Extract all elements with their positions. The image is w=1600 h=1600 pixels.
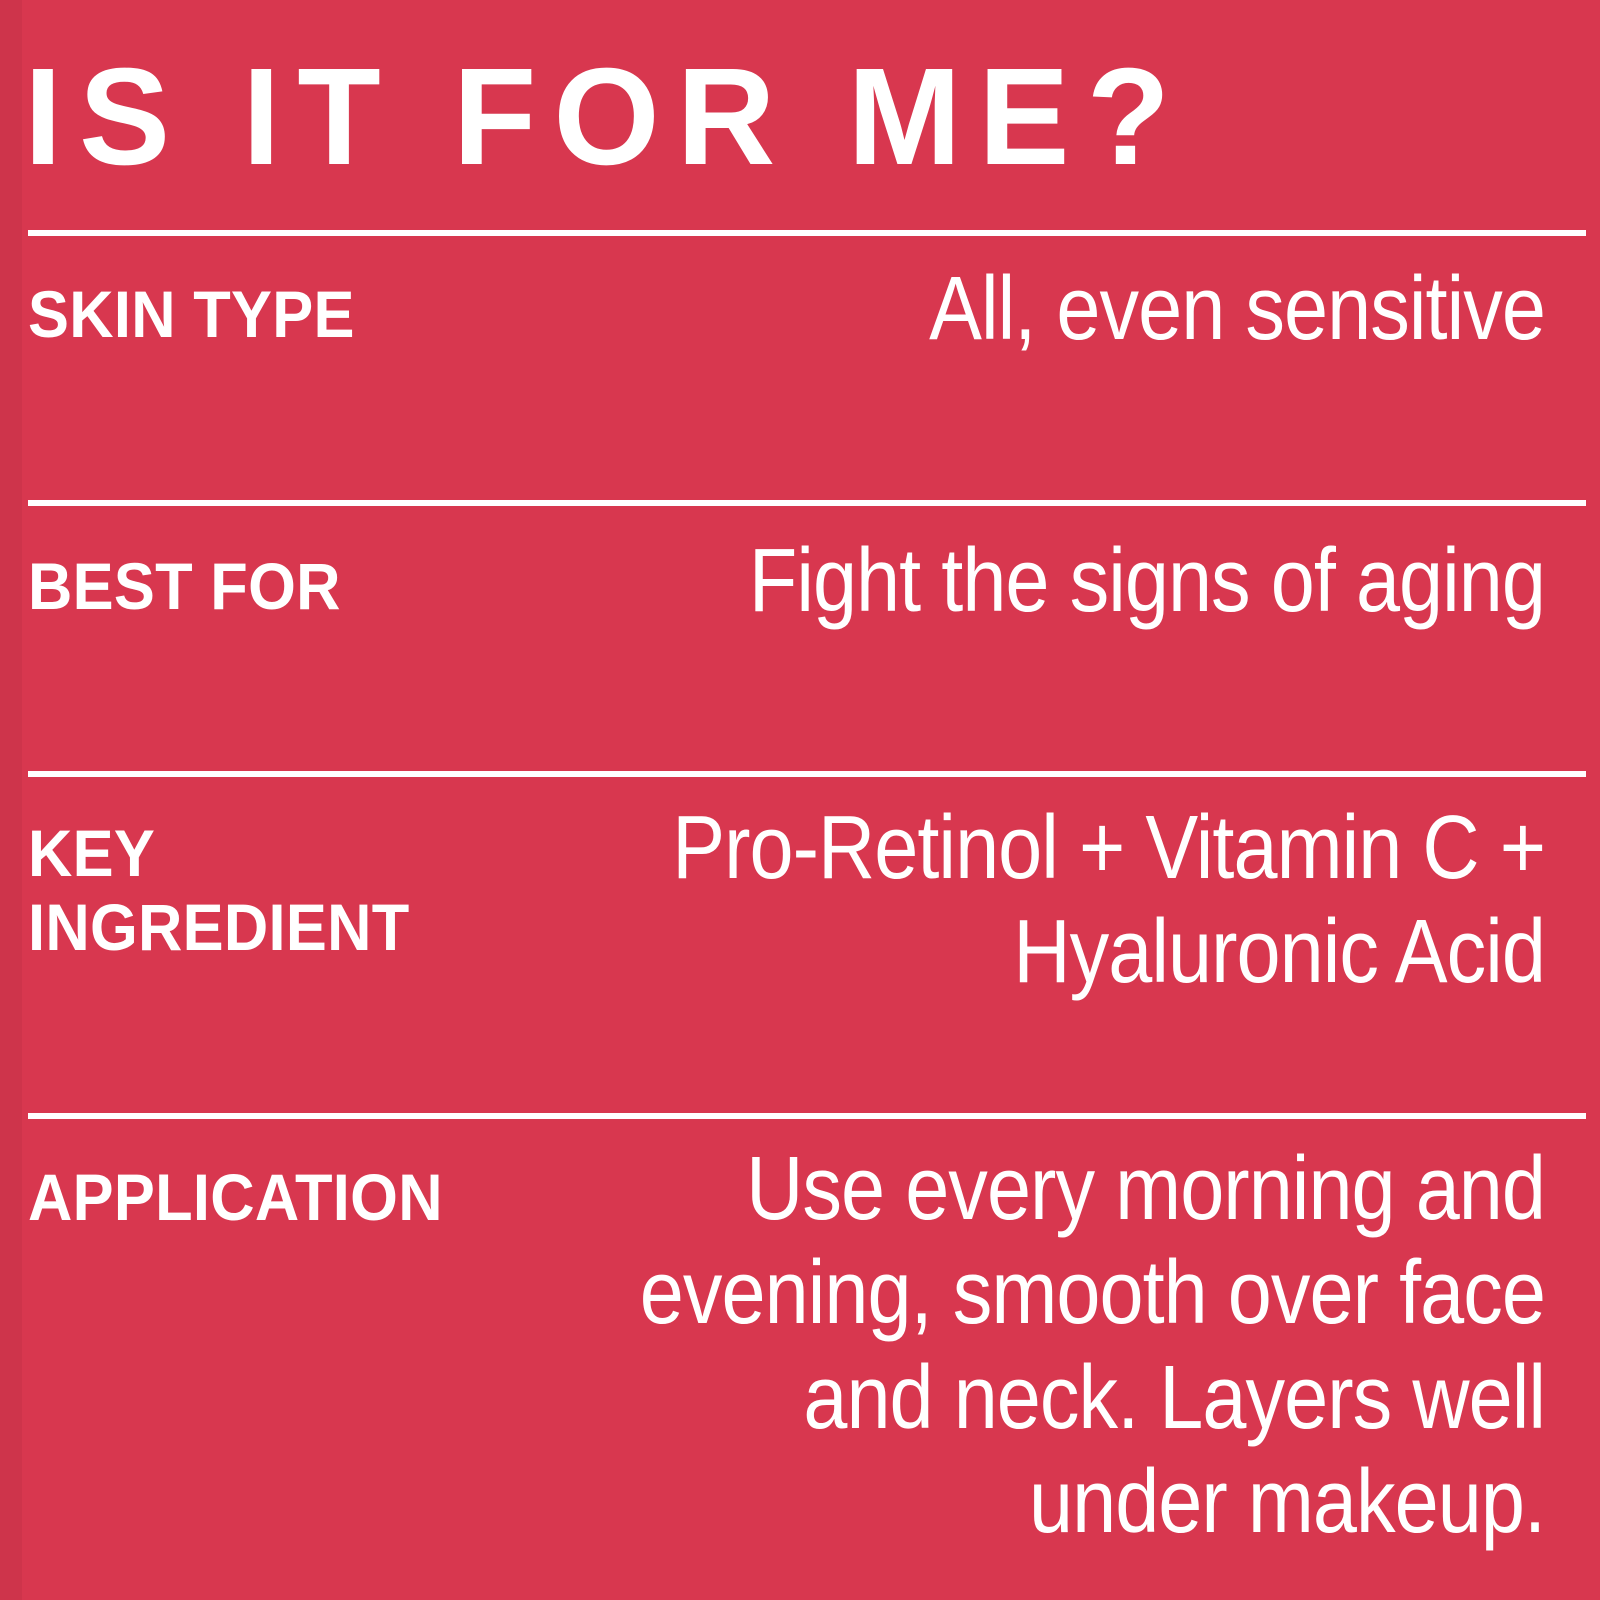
left-edge-shade bbox=[0, 0, 22, 1600]
row-label-skin-type: SKIN TYPE bbox=[28, 278, 355, 352]
row-divider bbox=[28, 500, 1586, 506]
row-label-application: APPLICATION bbox=[28, 1161, 443, 1235]
row-value-best-for: Fight the signs of aging bbox=[454, 529, 1545, 633]
row-label-best-for: BEST FOR bbox=[28, 550, 341, 624]
row-divider bbox=[28, 230, 1586, 236]
row-divider bbox=[28, 1113, 1586, 1119]
row-label-key-ingredient: KEY INGREDIENT bbox=[28, 817, 410, 965]
row-value-application: Use every morning and evening, smooth ov… bbox=[586, 1137, 1545, 1555]
row-value-skin-type: All, even sensitive bbox=[577, 257, 1545, 361]
row-divider bbox=[28, 771, 1586, 777]
row-value-key-ingredient: Pro-Retinol + Vitamin C + Hyaluronic Aci… bbox=[498, 796, 1545, 1005]
product-info-card: IS IT FOR ME? SKIN TYPE All, even sensit… bbox=[0, 0, 1600, 1600]
page-title: IS IT FOR ME? bbox=[24, 48, 1549, 186]
